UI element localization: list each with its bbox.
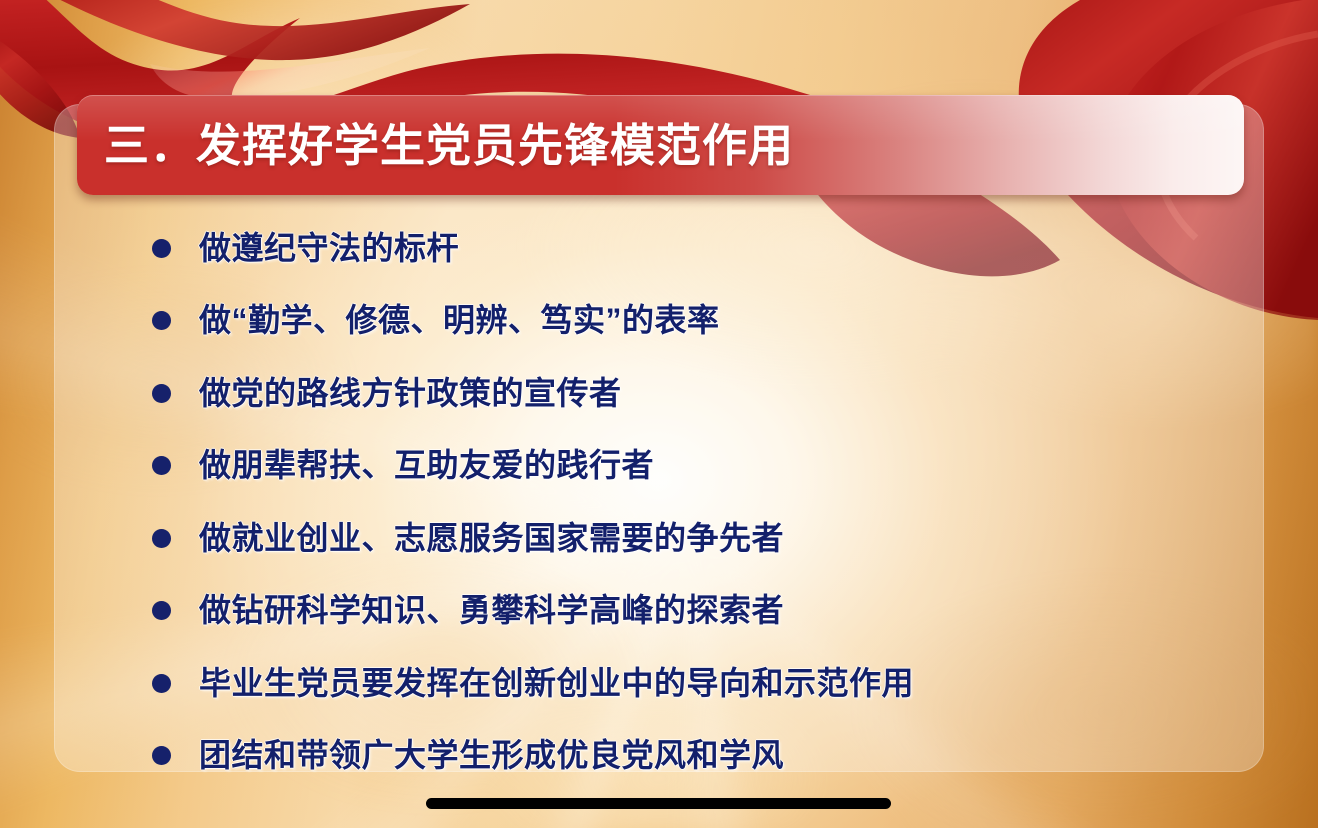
list-item-label: 做朋辈帮扶、互助友爱的践行者	[199, 448, 654, 483]
list-item-label: 做钻研科学知识、勇攀科学高峰的探索者	[199, 593, 784, 628]
list-item-label: 做遵纪守法的标杆	[199, 231, 459, 266]
page-title: 三．发挥好学生党员先锋模范作用	[104, 123, 794, 168]
list-item: 做就业创业、志愿服务国家需要的争先者	[152, 502, 1242, 575]
bullet-dot-icon	[152, 311, 171, 330]
bullet-dot-icon	[152, 674, 171, 693]
list-item: 做遵纪守法的标杆	[152, 212, 1242, 285]
bullet-dot-icon	[152, 746, 171, 765]
bullet-dot-icon	[152, 529, 171, 548]
list-item: 做朋辈帮扶、互助友爱的践行者	[152, 430, 1242, 503]
bullet-dot-icon	[152, 456, 171, 475]
bottom-rule	[426, 798, 891, 809]
list-item-label: 毕业生党员要发挥在创新创业中的导向和示范作用	[199, 666, 914, 701]
list-item: 做党的路线方针政策的宣传者	[152, 357, 1242, 430]
list-item-label: 团结和带领广大学生形成优良党风和学风	[199, 738, 784, 773]
bullet-list: 做遵纪守法的标杆 做“勤学、修德、明辨、笃实”的表率 做党的路线方针政策的宣传者…	[152, 212, 1242, 792]
list-item: 毕业生党员要发挥在创新创业中的导向和示范作用	[152, 647, 1242, 720]
list-item-label: 做党的路线方针政策的宣传者	[199, 376, 622, 411]
list-item-label: 做就业创业、志愿服务国家需要的争先者	[199, 521, 784, 556]
list-item-label: 做“勤学、修德、明辨、笃实”的表率	[199, 303, 720, 338]
bullet-dot-icon	[152, 384, 171, 403]
list-item: 团结和带领广大学生形成优良党风和学风	[152, 720, 1242, 793]
slide-canvas: 三．发挥好学生党员先锋模范作用 做遵纪守法的标杆 做“勤学、修德、明辨、笃实”的…	[0, 0, 1318, 828]
bullet-dot-icon	[152, 239, 171, 258]
bullet-dot-icon	[152, 601, 171, 620]
list-item: 做“勤学、修德、明辨、笃实”的表率	[152, 285, 1242, 358]
list-item: 做钻研科学知识、勇攀科学高峰的探索者	[152, 575, 1242, 648]
section-title-bar: 三．发挥好学生党员先锋模范作用	[77, 95, 1244, 195]
